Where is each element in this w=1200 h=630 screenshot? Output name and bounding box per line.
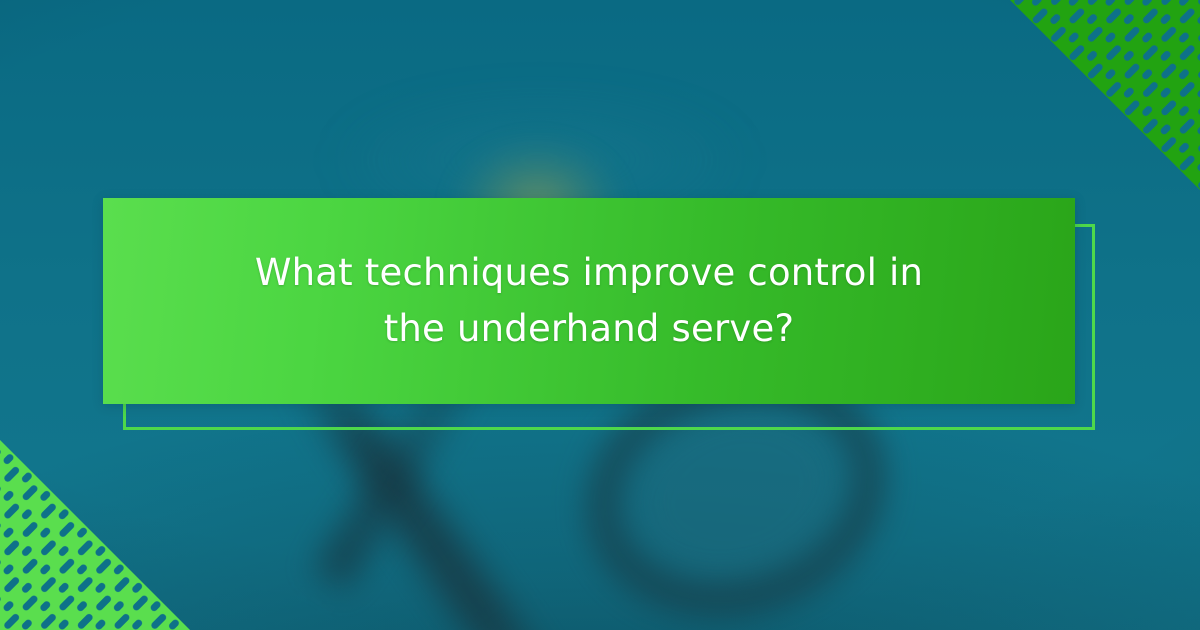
page-title: What techniques improve control in the u… [239, 245, 939, 357]
corner-decoration-top-right-icon [1010, 0, 1200, 190]
corner-decoration-bottom-left-icon [0, 440, 190, 630]
headline-banner: What techniques improve control in the u… [103, 198, 1075, 404]
share-card: What techniques improve control in the u… [0, 0, 1200, 630]
